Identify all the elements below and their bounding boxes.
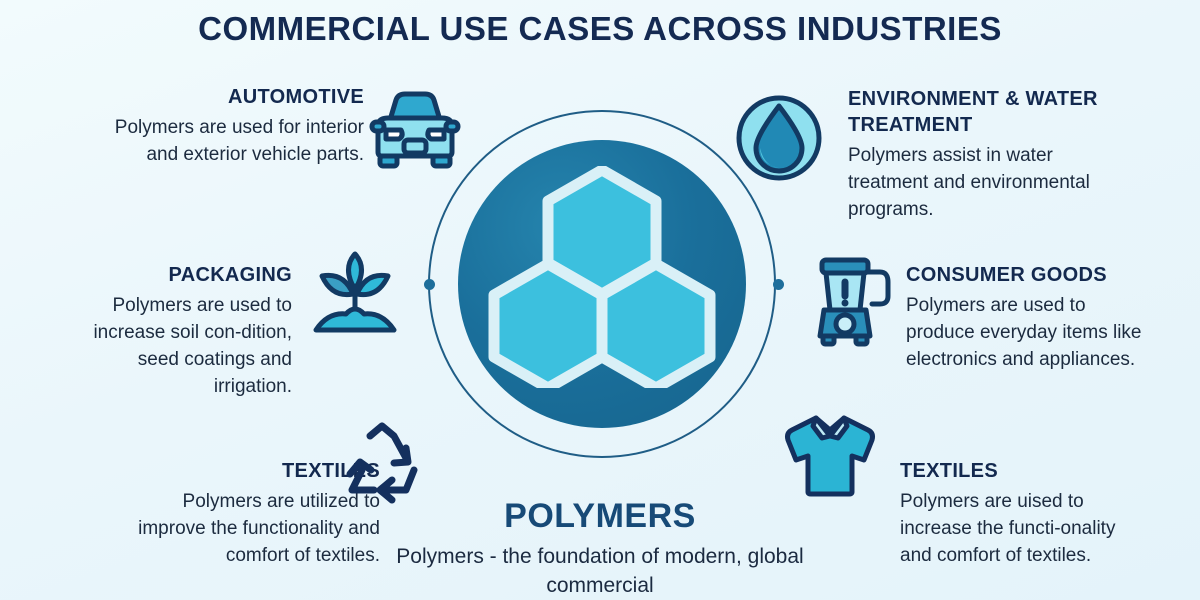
item-textiles-right-heading: TEXTILES <box>900 458 1120 484</box>
center-graphic <box>428 110 780 462</box>
polo-shirt-icon <box>780 408 880 505</box>
center-title: POLYMERS <box>380 496 820 536</box>
infographic-canvas: COMMERCIAL USE CASES ACROSS INDUSTRIES P… <box>0 0 1200 600</box>
item-consumer-goods[interactable]: CONSUMER GOODS Polymers are used to prod… <box>906 262 1146 373</box>
item-consumer-goods-body: Polymers are used to produce everyday it… <box>906 292 1146 373</box>
recycle-icon <box>334 418 430 515</box>
item-automotive-heading: AUTOMOTIVE <box>96 84 364 110</box>
item-automotive[interactable]: AUTOMOTIVE Polymers are used for interio… <box>96 84 364 168</box>
center-description: Polymers - the foundation of modern, glo… <box>380 542 820 600</box>
item-packaging-heading: PACKAGING <box>62 262 292 288</box>
item-automotive-body: Polymers are used for interior and exter… <box>96 114 364 168</box>
water-drop-icon <box>734 92 824 189</box>
center-text-block: POLYMERS Polymers - the foundation of mo… <box>380 496 820 600</box>
item-environment-water-treatment[interactable]: ENVIRONMENT & WATER TREATMENT Polymers a… <box>848 86 1118 223</box>
item-consumer-goods-heading: CONSUMER GOODS <box>906 262 1146 288</box>
item-packaging-body: Polymers are used to increase soil con-d… <box>62 292 292 400</box>
blender-icon <box>810 252 894 353</box>
page-title: COMMERCIAL USE CASES ACROSS INDUSTRIES <box>0 10 1200 48</box>
car-icon <box>368 86 462 177</box>
ring-dot-right <box>773 279 784 290</box>
polymer-hexagons-icon <box>486 166 718 388</box>
item-packaging[interactable]: PACKAGING Polymers are used to increase … <box>62 262 292 400</box>
item-textiles-right-body: Polymers are uised to increase the funct… <box>900 488 1120 569</box>
item-environment-heading: ENVIRONMENT & WATER TREATMENT <box>848 86 1118 138</box>
sprout-icon <box>308 246 402 343</box>
item-textiles-right[interactable]: TEXTILES Polymers are uised to increase … <box>900 458 1120 569</box>
item-environment-body: Polymers assist in water treatment and e… <box>848 142 1118 223</box>
ring-dot-left <box>424 279 435 290</box>
